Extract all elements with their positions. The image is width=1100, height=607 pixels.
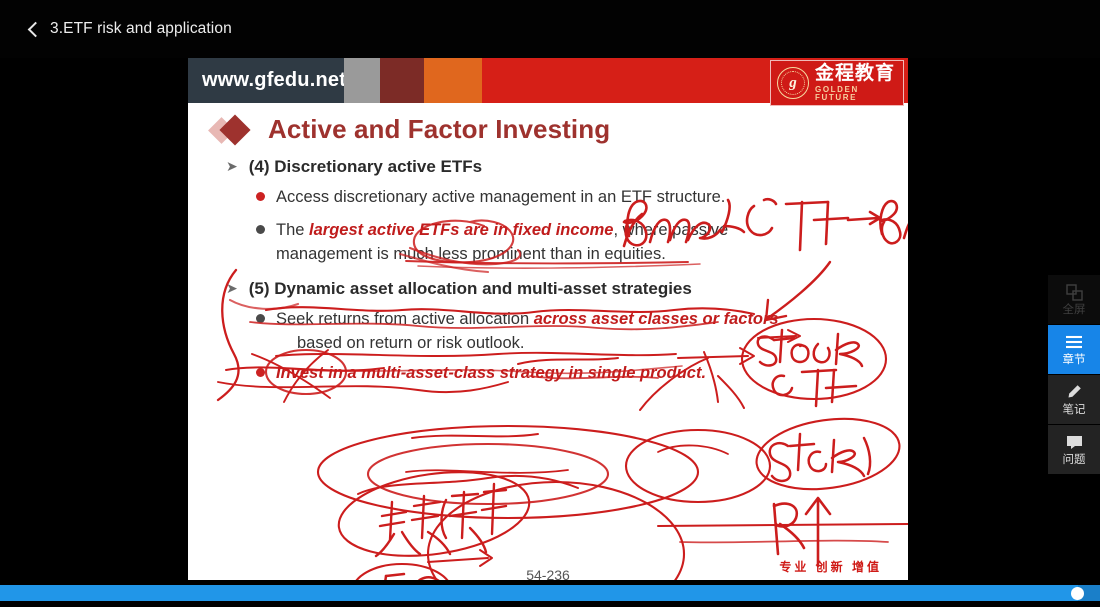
slide-title: Active and Factor Investing xyxy=(268,114,610,145)
sidebar-item-label: 问题 xyxy=(1063,455,1086,467)
slide-title-row: Active and Factor Investing xyxy=(210,114,908,145)
red-dot-bullet-icon xyxy=(256,192,265,201)
sidebar-item-fullscreen[interactable]: 全屏 xyxy=(1048,275,1100,325)
top-bar: 3.ETF risk and application xyxy=(0,0,1100,58)
sidebar-item-label: 笔记 xyxy=(1063,405,1086,417)
bullet-continuation: based on return or risk outlook. xyxy=(297,334,908,353)
slide-header-band: www.gfedu.net g 金程教育 GOLDEN FUTURE xyxy=(188,58,908,103)
bullet-level2-label: Access discretionary active management i… xyxy=(276,186,725,210)
bullet-level2: The largest active ETFs are in fixed inc… xyxy=(256,219,908,267)
arrow-bullet-icon: ➤ xyxy=(226,281,238,295)
bullet-level2: Invest in a multi-asset-class strategy i… xyxy=(256,362,908,386)
bullet-level1-label: (5) Dynamic asset allocation and multi-a… xyxy=(249,279,692,299)
bullet-level2-label: Seek returns from active allocation acro… xyxy=(276,308,779,332)
sidebar-item-label: 全屏 xyxy=(1063,305,1086,317)
video-progress-bar[interactable] xyxy=(0,585,1100,601)
progress-played xyxy=(0,585,1078,601)
emphasis-segment: across asset classes or factors xyxy=(534,310,779,328)
gfedu-logo: g 金程教育 GOLDEN FUTURE xyxy=(770,60,904,106)
comment-icon xyxy=(1066,433,1083,452)
bullet-level2: Access discretionary active management i… xyxy=(256,186,908,210)
video-player-window: 3.ETF risk and application www.gfedu.net… xyxy=(0,0,1100,607)
text-segment: Seek returns from active allocation xyxy=(276,310,534,328)
fullscreen-icon xyxy=(1066,283,1083,302)
sidebar-item-questions[interactable]: 问题 xyxy=(1048,425,1100,475)
bullet-level1-label: (4) Discretionary active ETFs xyxy=(249,157,482,177)
header-block-gray xyxy=(344,58,380,103)
logo-english-name: GOLDEN FUTURE xyxy=(815,86,903,102)
chevron-left-icon xyxy=(28,21,44,37)
seal-glyph: g xyxy=(789,75,797,92)
menu-icon xyxy=(1065,333,1083,352)
red-dot-bullet-icon xyxy=(256,368,265,377)
bullet-level2-label: The largest active ETFs are in fixed inc… xyxy=(276,219,796,267)
bullet-level2-label: Invest in a multi-asset-class strategy i… xyxy=(276,362,706,386)
dark-dot-bullet-icon xyxy=(256,225,265,234)
header-block-orange xyxy=(424,58,482,103)
page-title: 3.ETF risk and application xyxy=(50,20,232,38)
logo-chinese-name: 金程教育 xyxy=(815,64,903,83)
sidebar-item-notes[interactable]: 笔记 xyxy=(1048,375,1100,425)
dark-dot-bullet-icon xyxy=(256,314,265,323)
emphasis-segment: largest active ETFs are in fixed income xyxy=(309,221,613,239)
text-segment: The xyxy=(276,221,309,239)
diamond-bullet-icon xyxy=(210,115,256,145)
bullet-level2: Seek returns from active allocation acro… xyxy=(256,308,908,332)
header-block-maroon xyxy=(380,58,424,103)
back-button[interactable]: 3.ETF risk and application xyxy=(30,20,232,38)
arrow-bullet-icon: ➤ xyxy=(226,159,238,173)
slide-body: Active and Factor Investing ➤ (4) Discre… xyxy=(188,114,908,580)
bullet-level1: ➤ (5) Dynamic asset allocation and multi… xyxy=(226,279,908,299)
bullet-level1: ➤ (4) Discretionary active ETFs xyxy=(226,157,908,177)
slide-site-url: www.gfedu.net xyxy=(188,58,344,103)
slide-slogan: 专业 创新 增值 xyxy=(779,558,882,575)
right-sidebar: 全屏 章节 笔记 问题 xyxy=(1048,275,1100,475)
slide-stage[interactable]: www.gfedu.net g 金程教育 GOLDEN FUTURE xyxy=(188,58,908,580)
sidebar-item-label: 章节 xyxy=(1063,355,1086,367)
bullet-list: ➤ (4) Discretionary active ETFs Access d… xyxy=(226,157,908,386)
seal-icon: g xyxy=(777,67,809,99)
progress-knob[interactable] xyxy=(1071,587,1084,600)
sidebar-item-chapters[interactable]: 章节 xyxy=(1048,325,1100,375)
bottom-edge xyxy=(0,601,1100,607)
pencil-icon xyxy=(1066,383,1082,402)
